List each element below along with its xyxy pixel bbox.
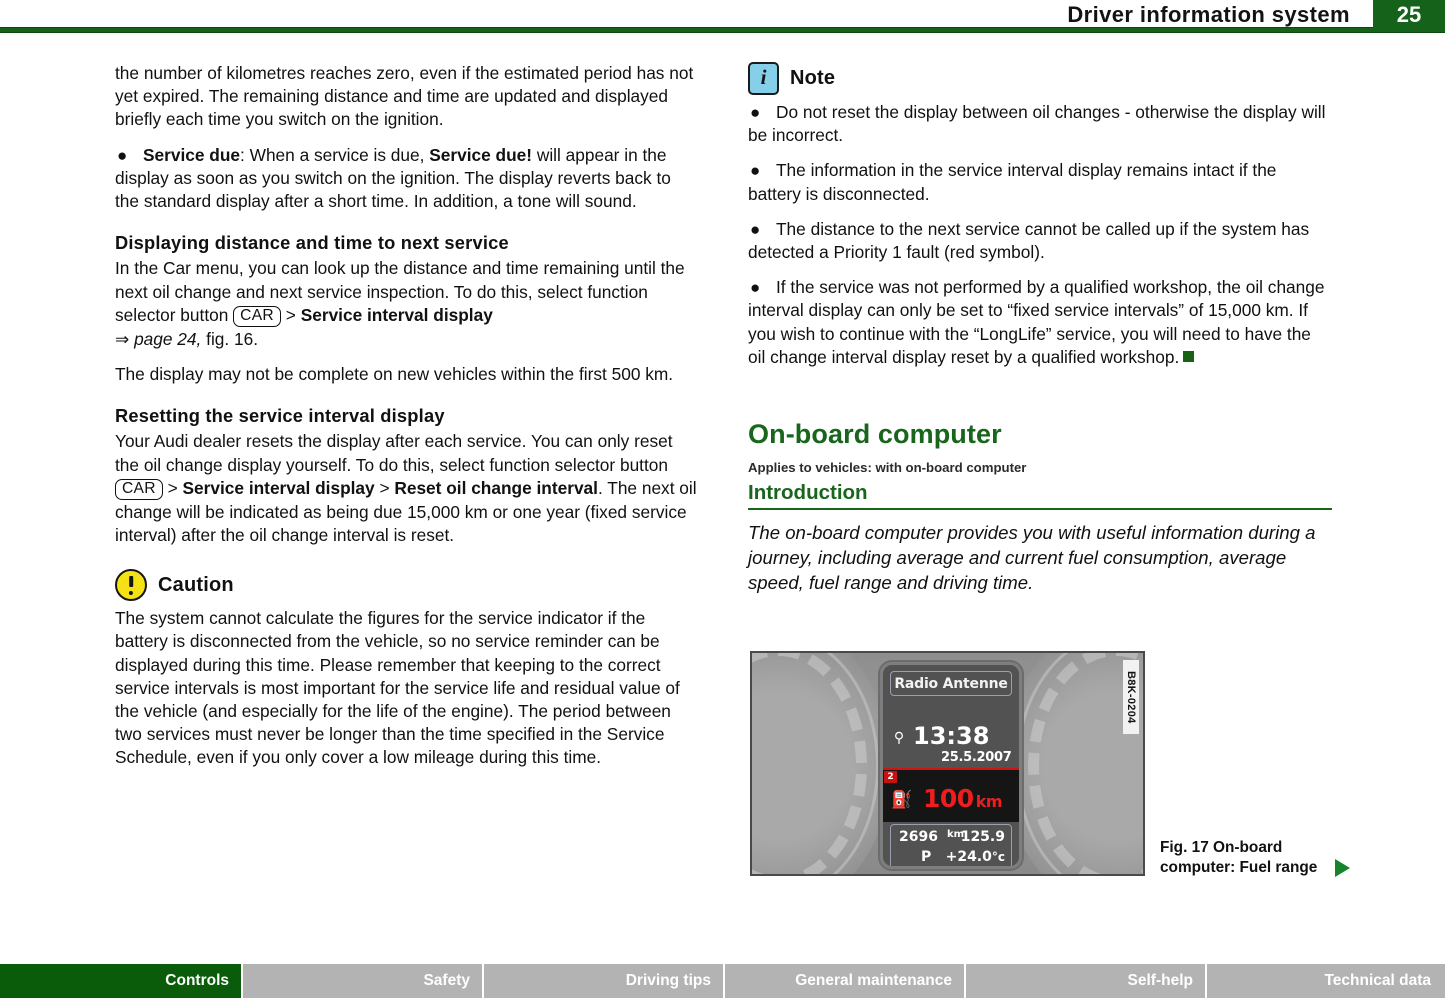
caution-block-header: Caution (115, 569, 699, 601)
subsection-title-introduction: Introduction (748, 481, 1332, 505)
section-title-on-board-computer: On-board computer (748, 423, 1332, 446)
paragraph-new-vehicles: The display may not be complete on new v… (115, 363, 699, 386)
display-bottom-info-box: 2696 km 125.9 P +24.0°c (890, 824, 1012, 866)
odometer-value: 2696 (899, 829, 938, 845)
gauge-ring (750, 651, 879, 876)
play-triangle-icon (1335, 859, 1350, 877)
para2-part-c: fig. 16. (201, 329, 258, 349)
cross-reference-page[interactable]: page 24, (134, 329, 201, 349)
note-block-header: i Note (748, 62, 1332, 95)
figure-caption-line-1: Fig. 17 On-board (1160, 838, 1360, 858)
page-number-block: 25 (1373, 0, 1445, 31)
car-button-keycap: CAR (233, 306, 281, 327)
note-bullet-1-text: Do not reset the display between oil cha… (748, 101, 1332, 147)
bullet-dot-icon: ● (117, 144, 127, 167)
page-header: Driver information system 25 (0, 0, 1445, 33)
image-reference-code: B8K-0204 (1123, 660, 1139, 734)
note-bullet-1: ● Do not reset the display between oil c… (748, 101, 1332, 147)
para4-part-b: > (163, 478, 183, 498)
range-number: 100 (923, 784, 974, 813)
footer-tab-self-help[interactable]: Self-help (966, 964, 1207, 998)
para4-bold-menu-2: Reset oil change interval (394, 478, 598, 498)
bullet-lead-label: Service due (143, 145, 240, 165)
page-number: 25 (1373, 2, 1445, 28)
temperature-number: +24.0 (946, 849, 992, 865)
paragraph-car-menu: In the Car menu, you can look up the dis… (115, 257, 699, 351)
caution-body-text: The system cannot calculate the figures … (115, 607, 699, 769)
bullet-emphasis: Service due! (429, 145, 532, 165)
bullet-dot-icon: ● (750, 218, 760, 241)
gear-position-value: P (921, 849, 931, 865)
caution-label: Caution (158, 574, 234, 597)
para2-part-b: > (281, 305, 301, 325)
footer-tab-general-maintenance[interactable]: General maintenance (725, 964, 966, 998)
bullet-dot-icon: ● (750, 159, 760, 182)
heading-resetting-service: Resetting the service interval display (115, 404, 699, 427)
note-label: Note (790, 67, 835, 90)
range-unit: km (976, 792, 1002, 811)
trip-value: 125.9 (961, 829, 1005, 845)
display-range-value: 100km (923, 784, 1002, 813)
figure-caption-line-2: computer: Fuel range (1160, 858, 1360, 878)
para4-part-c: > (375, 478, 395, 498)
display-clock-value: 13:38 (913, 722, 989, 750)
note-bullet-2-text: The information in the service interval … (748, 159, 1332, 205)
applies-to-note: Applies to vehicles: with on-board compu… (748, 456, 1332, 479)
para4-part-a: Your Audi dealer resets the display afte… (115, 431, 673, 474)
note-bullet-4-text: If the service was not performed by a qu… (748, 277, 1325, 367)
green-divider-rule (748, 508, 1332, 510)
footer-tab-controls[interactable]: Controls (0, 964, 243, 998)
para4-bold-menu-1: Service interval display (183, 478, 375, 498)
introduction-italic-text: The on-board computer provides you with … (748, 520, 1332, 595)
footer-tab-safety[interactable]: Safety (243, 964, 484, 998)
footer-tab-bar: Controls Safety Driving tips General mai… (0, 964, 1445, 998)
display-date-value: 25.5.2007 (941, 750, 1012, 765)
paragraph-continuation: the number of kilometres reaches zero, e… (115, 62, 699, 132)
spacer (748, 381, 1332, 423)
bullet-dot-icon: ● (750, 101, 760, 124)
display-title-radio-antenne: Radio Antenne (890, 671, 1012, 696)
note-bullet-4: ● If the service was not performed by a … (748, 276, 1332, 369)
cross-reference-arrow-icon: ⇒ (115, 330, 129, 349)
note-bullet-3-text: The distance to the next service cannot … (748, 218, 1332, 264)
bullet-dot-icon: ● (750, 276, 760, 299)
gear-indicator-badge: 2 (884, 771, 897, 783)
heading-displaying-distance: Displaying distance and time to next ser… (115, 231, 699, 254)
note-bullet-2: ● The information in the service interva… (748, 159, 1332, 205)
section-end-marker-icon (1183, 351, 1194, 362)
antenna-icon: ⚲ (891, 731, 907, 745)
header-divider-rule (0, 27, 1445, 33)
footer-tab-technical-data[interactable]: Technical data (1207, 964, 1445, 998)
left-gauge-dial (750, 651, 891, 876)
warning-exclamation-icon (115, 569, 147, 601)
bullet-after-lead: : When a service is due, (240, 145, 429, 165)
outside-temperature-value: +24.0°c (946, 849, 1005, 865)
paragraph-reset-instructions: Your Audi dealer resets the display afte… (115, 430, 699, 547)
display-fuel-range-band: 2 ⛽ 100km (883, 768, 1019, 822)
para2-bold-menu: Service interval display (301, 305, 493, 325)
footer-tab-driving-tips[interactable]: Driving tips (484, 964, 725, 998)
note-bullet-3: ● The distance to the next service canno… (748, 218, 1332, 264)
fuel-pump-icon: ⛽ (891, 792, 912, 809)
figure-on-board-computer: Radio Antenne ⚲ 13:38 25.5.2007 2 ⛽ 100k… (750, 651, 1145, 876)
driver-information-display: Radio Antenne ⚲ 13:38 25.5.2007 2 ⛽ 100k… (883, 665, 1019, 866)
display-clock-row: ⚲ 13:38 (891, 722, 1013, 750)
bullet-service-due: ● Service due: When a service is due, Se… (115, 144, 699, 214)
page-title: Driver information system (1067, 2, 1350, 28)
left-text-column: the number of kilometres reaches zero, e… (115, 62, 699, 770)
info-i-icon: i (748, 62, 779, 95)
right-text-column: i Note ● Do not reset the display betwee… (748, 62, 1332, 595)
instrument-cluster-photo: Radio Antenne ⚲ 13:38 25.5.2007 2 ⛽ 100k… (750, 651, 1145, 876)
car-button-keycap-2: CAR (115, 479, 163, 500)
temperature-unit: °c (992, 850, 1005, 864)
figure-caption: Fig. 17 On-board computer: Fuel range (1160, 838, 1360, 878)
